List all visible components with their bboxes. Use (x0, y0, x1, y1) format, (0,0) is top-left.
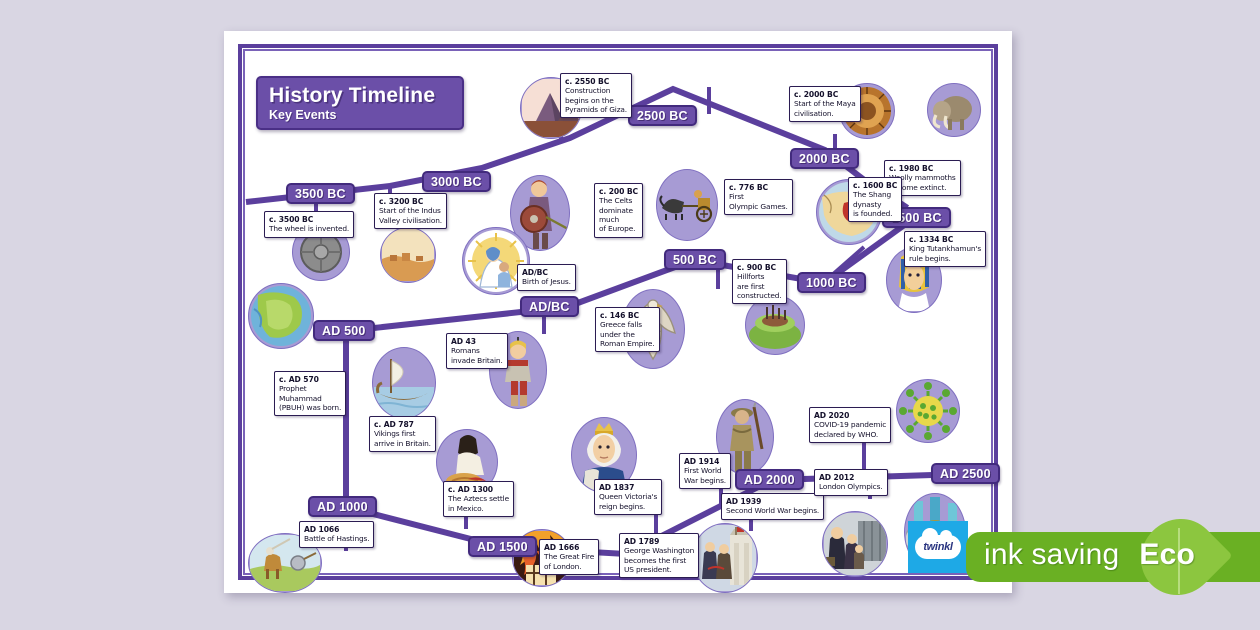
event-date: AD 1914 (684, 457, 726, 467)
event-text: Romans (451, 346, 503, 355)
event-date: AD 1666 (544, 543, 594, 553)
event-text: Hillforts (737, 272, 782, 281)
event-date: c. AD 570 (279, 375, 341, 385)
event-text: declared by WHO. (814, 430, 886, 439)
event-callout-indus[interactable]: c. 3200 BC Start of the Indus Valley civ… (374, 193, 447, 229)
era-marker-3000bc[interactable]: 3000 BC (422, 171, 491, 192)
poster-canvas: History Timeline Key Events 3500 BC 3000… (0, 0, 1260, 630)
event-date: AD 2020 (814, 411, 886, 421)
event-text: Queen Victoria's (599, 492, 657, 501)
event-text: The Celts (599, 196, 638, 205)
event-text: reign begins. (599, 502, 657, 511)
event-text: Vikings first (374, 429, 431, 438)
event-text: Roman Empire. (600, 339, 655, 348)
woolly-mammoth-icon (927, 83, 981, 137)
event-text: The Shang (853, 190, 897, 199)
arabia-map-icon (248, 283, 314, 349)
era-marker-1000bc[interactable]: 1000 BC (797, 272, 866, 293)
event-text: civilisation. (794, 109, 856, 118)
page-title: History Timeline Key Events (256, 76, 464, 130)
event-callout-celts[interactable]: c. 200 BC The Celts dominate much of Eur… (594, 183, 643, 238)
event-text: (PBUH) was born. (279, 403, 341, 412)
event-text: dominate (599, 206, 638, 215)
event-text: Birth of Jesus. (522, 277, 571, 286)
event-date: c. 3200 BC (379, 197, 442, 207)
era-marker-3500bc[interactable]: 3500 BC (286, 183, 355, 204)
event-text: becomes the first (624, 556, 694, 565)
event-callout-washington[interactable]: AD 1789 George Washington becomes the fi… (619, 533, 699, 578)
event-text: George Washington (624, 546, 694, 555)
event-text: is founded. (853, 209, 897, 218)
era-marker-2500bc[interactable]: 2500 BC (628, 105, 697, 126)
event-text: invade Britain. (451, 356, 503, 365)
ink-saving-eco-badge: ink savingEco (966, 526, 1260, 588)
event-callout-victoria[interactable]: AD 1837 Queen Victoria's reign begins. (594, 479, 662, 515)
event-callout-maya[interactable]: c. 2000 BC Start of the Maya civilisatio… (789, 86, 861, 122)
event-text: War begins. (684, 476, 726, 485)
era-marker-ad500[interactable]: AD 500 (313, 320, 375, 341)
event-text: Muhammad (279, 394, 341, 403)
event-text: Battle of Hastings. (304, 534, 369, 543)
event-text: US president. (624, 565, 694, 574)
event-callout-shang[interactable]: c. 1600 BC The Shang dynasty is founded. (848, 177, 902, 222)
poster-sheet: History Timeline Key Events 3500 BC 3000… (224, 31, 1012, 593)
event-date: c. 1334 BC (909, 235, 981, 245)
event-text: under the (600, 330, 655, 339)
viking-longship-icon (372, 347, 436, 419)
event-date: c. AD 1300 (448, 485, 509, 495)
event-text: Olympic Games. (729, 202, 788, 211)
event-date: c. 146 BC (600, 311, 655, 321)
coronavirus-icon (896, 379, 960, 443)
event-text: of Europe. (599, 224, 638, 233)
event-text: constructed. (737, 291, 782, 300)
era-marker-ad2500[interactable]: AD 2500 (931, 463, 1000, 484)
event-text: arrive in Britain. (374, 439, 431, 448)
event-date: c. 1980 BC (889, 164, 956, 174)
event-date: c. AD 787 (374, 420, 431, 430)
event-date: c. 1600 BC (853, 181, 897, 191)
event-text: First World (684, 466, 726, 475)
event-callout-ww1[interactable]: AD 1914 First World War begins. (679, 453, 731, 489)
ww2-evacuees-icon (822, 511, 888, 577)
event-callout-covid[interactable]: AD 2020 COVID-19 pandemic declared by WH… (809, 407, 891, 443)
event-text: King Tutankhamun's (909, 244, 981, 253)
era-marker-ad1500[interactable]: AD 1500 (468, 536, 537, 557)
era-marker-2000bc[interactable]: 2000 BC (790, 148, 859, 169)
event-text: First (729, 192, 788, 201)
event-callout-wheel[interactable]: c. 3500 BC The wheel is invented. (264, 211, 354, 238)
twinkl-cloud-icon: twinkl (915, 535, 961, 559)
title-subtitle: Key Events (269, 108, 462, 123)
event-text: Start of the Indus (379, 206, 442, 215)
event-text: Construction (565, 86, 627, 95)
event-text: Pyramids of Giza. (565, 105, 627, 114)
event-text: Prophet (279, 384, 341, 393)
event-text: dynasty (853, 200, 897, 209)
event-text: begins on the (565, 96, 627, 105)
event-date: AD 2012 (819, 473, 883, 483)
event-callout-hastings[interactable]: AD 1066 Battle of Hastings. (299, 521, 374, 548)
event-text: The Aztecs settle (448, 494, 509, 503)
chariot-icon (656, 169, 718, 241)
twinkl-wordmark: twinkl (923, 541, 952, 553)
event-text: of London. (544, 562, 594, 571)
event-date: AD 1837 (599, 483, 657, 493)
event-callout-london-olympics[interactable]: AD 2012 London Olympics. (814, 469, 888, 496)
eco-label: ink savingEco (984, 538, 1260, 572)
event-text: COVID-19 pandemic (814, 420, 886, 429)
event-text: The Great Fire (544, 552, 594, 561)
event-callout-aztecs[interactable]: c. AD 1300 The Aztecs settle in Mexico. (443, 481, 514, 517)
era-marker-ad2000[interactable]: AD 2000 (735, 469, 804, 490)
event-callout-vikings[interactable]: c. AD 787 Vikings first arrive in Britai… (369, 416, 436, 452)
eco-label-text: ink saving (984, 538, 1119, 571)
event-text: The wheel is invented. (269, 224, 349, 233)
event-text: rule begins. (909, 254, 981, 263)
event-callout-hillforts[interactable]: c. 900 BC Hillforts are first constructe… (732, 259, 787, 304)
event-callout-birth-of-jesus[interactable]: AD/BC Birth of Jesus. (517, 264, 576, 291)
event-callout-pyramids[interactable]: c. 2550 BC Construction begins on the Py… (560, 73, 632, 118)
title-main: History Timeline (269, 83, 462, 108)
event-date: AD/BC (522, 268, 571, 278)
event-text: are first (737, 282, 782, 291)
event-callout-tutankhamun[interactable]: c. 1334 BC King Tutankhamun's rule begin… (904, 231, 986, 267)
era-marker-500bc[interactable]: 500 BC (664, 249, 726, 270)
event-callout-great-fire[interactable]: AD 1666 The Great Fire of London. (539, 539, 599, 575)
event-date: c. 900 BC (737, 263, 782, 273)
washington-icon (692, 523, 758, 593)
event-date: c. 3500 BC (269, 215, 349, 225)
event-text: in Mexico. (448, 504, 509, 513)
era-marker-adbc[interactable]: AD/BC (520, 296, 579, 317)
event-date: AD 1066 (304, 525, 369, 535)
eco-label-bold: Eco (1139, 538, 1195, 571)
event-text: Greece falls (600, 320, 655, 329)
event-text: much (599, 215, 638, 224)
event-date: AD 1939 (726, 497, 819, 507)
twinkl-logo: twinkl (908, 521, 968, 573)
event-text: Start of the Maya (794, 99, 856, 108)
event-callout-romans-britain[interactable]: AD 43 Romans invade Britain. (446, 333, 508, 369)
event-text: London Olympics. (819, 482, 883, 491)
event-text: Valley civilisation. (379, 216, 442, 225)
event-callout-ww2[interactable]: AD 1939 Second World War begins. (721, 493, 824, 520)
event-date: AD 43 (451, 337, 503, 347)
event-callout-olympics-first[interactable]: c. 776 BC First Olympic Games. (724, 179, 793, 215)
indus-valley-icon (380, 227, 436, 283)
event-date: c. 200 BC (599, 187, 638, 197)
event-callout-prophet-muhammad[interactable]: c. AD 570 Prophet Muhammad (PBUH) was bo… (274, 371, 346, 416)
event-date: c. 2000 BC (794, 90, 856, 100)
event-date: c. 2550 BC (565, 77, 627, 87)
era-marker-ad1000[interactable]: AD 1000 (308, 496, 377, 517)
event-date: c. 776 BC (729, 183, 788, 193)
event-callout-greece[interactable]: c. 146 BC Greece falls under the Roman E… (595, 307, 660, 352)
event-text: Second World War begins. (726, 506, 819, 515)
event-date: AD 1789 (624, 537, 694, 547)
